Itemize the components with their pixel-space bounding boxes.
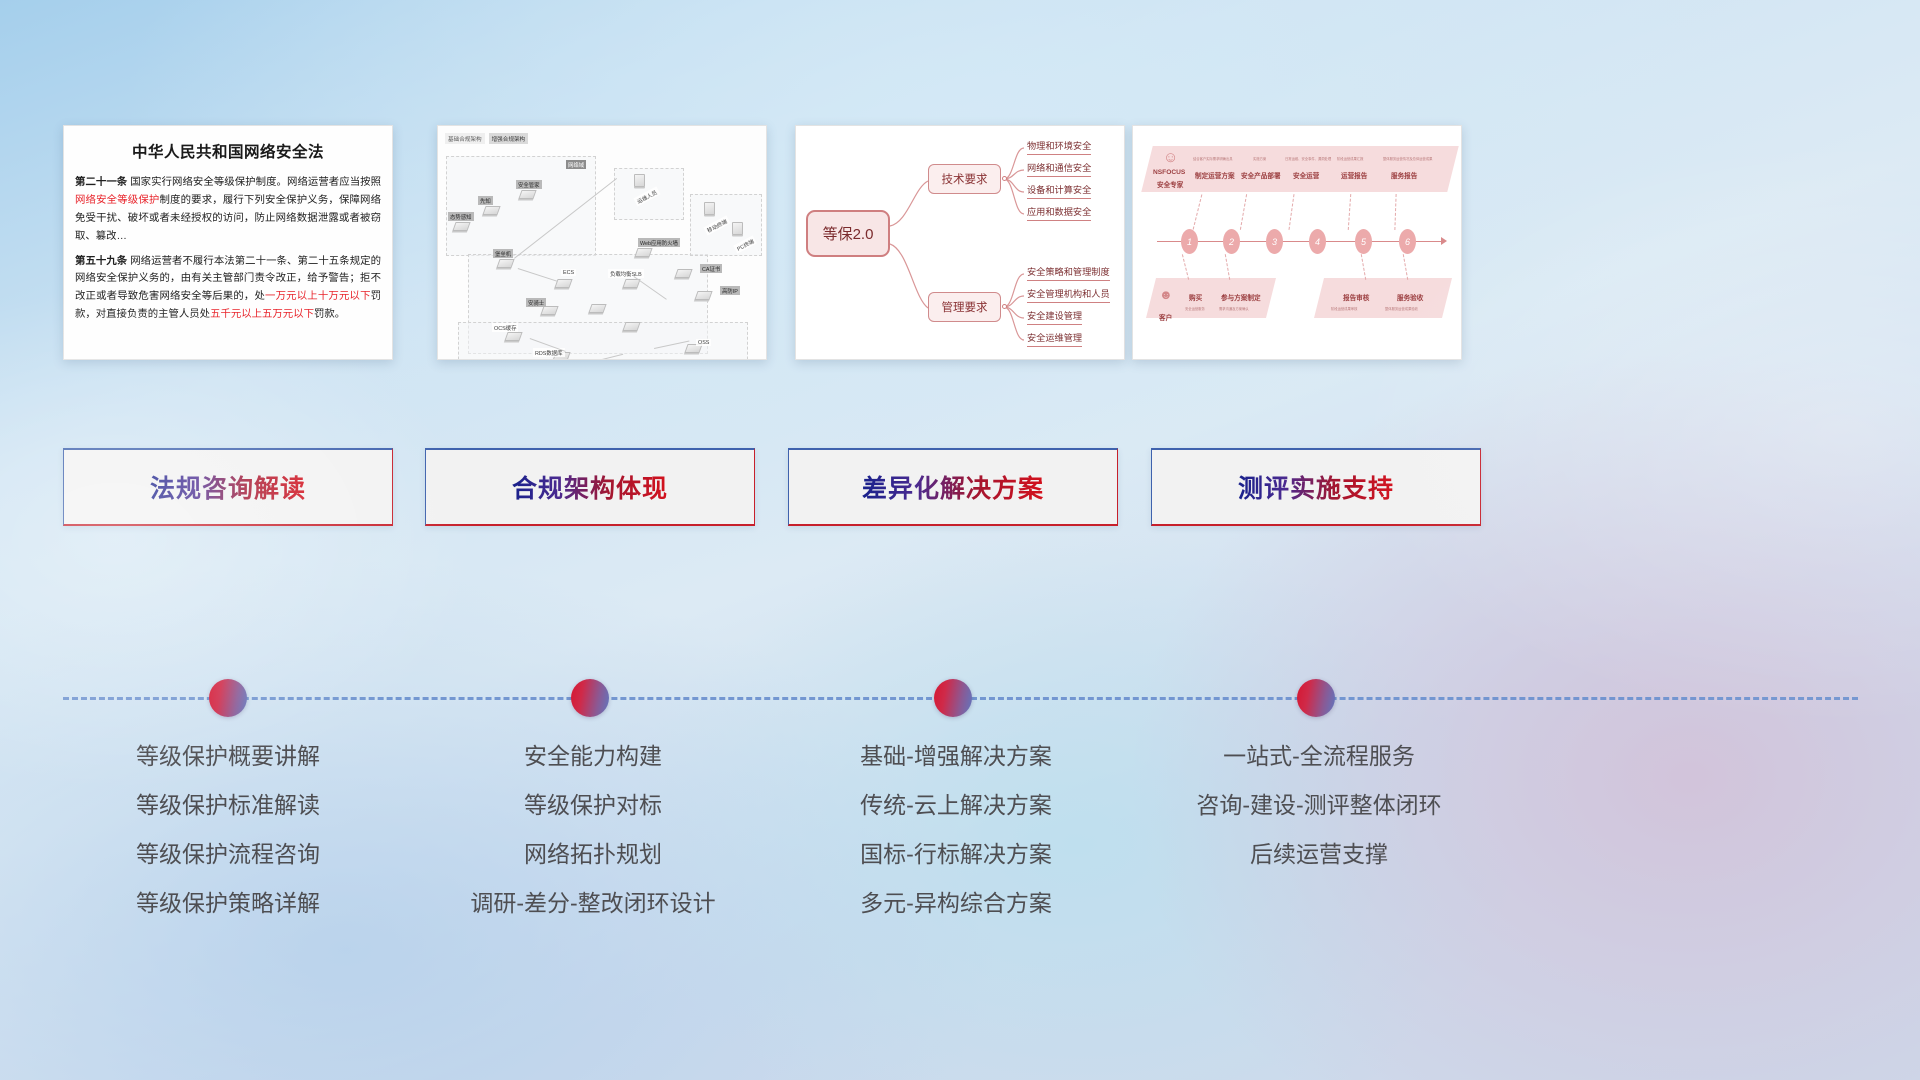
timeline-step-number: 4 [1309,229,1326,254]
architecture-node-label: 安骑士 [526,298,546,307]
timeline-node-3[interactable] [934,679,972,717]
law-highlight-segment: 网络安全等级保护 [75,195,159,206]
mindmap-leaf: 应用和数据安全 [1027,204,1091,221]
mindmap-leaf: 安全建设管理 [1027,308,1082,325]
architecture-node-label: Web应用防火墙 [638,238,680,247]
heading-label: 差异化解决方案 [862,469,1044,505]
timeline-tick [1348,194,1352,230]
device-icon-pc-terminal [732,222,743,235]
timeline-tick [1361,254,1366,280]
bottom-step-main: 服务验收 [1397,292,1423,302]
list-item: 等级保护流程咨询 [58,843,398,866]
device-icon-mobile-terminal [704,202,715,215]
timeline-tick [1193,194,1203,229]
list-item: 多元-异构综合方案 [786,892,1126,915]
heading-box-differentiated-solution[interactable]: 差异化解决方案 [788,448,1118,526]
customer-actor-label: 客户 [1159,312,1172,322]
law-article-label: 第五十九条 [75,256,127,267]
timeline-tick [1240,194,1247,230]
timeline-step-number: 6 [1399,229,1416,254]
mindmap-leaf: 物理和环境安全 [1027,138,1091,155]
timeline-tick [1403,254,1408,280]
architecture-node-label: OCS缓存 [492,323,518,332]
mindmap-branch-technical: 技术要求 [928,164,1001,194]
timeline-step-number: 1 [1181,229,1198,254]
architecture-node-label: 网络域 [566,160,586,169]
timeline-tick [1288,194,1294,230]
heading-label: 合规架构体现 [512,469,668,505]
top-step-main: 安全运营 [1293,170,1319,180]
bottom-step-main: 购买 [1189,292,1202,302]
architecture-node-label: 高防IP [720,286,740,295]
architecture-node-label: 堡垒机 [493,249,513,258]
timeline-tick [1225,254,1230,280]
device-icon-anti-ddos-ip [694,291,712,300]
law-highlight-segment: 一万元以上十万元以下 [265,291,371,302]
law-highlight-segment: 五千元以上五万元以下 [210,309,314,320]
list-assessment-support: 一站式-全流程服务 咨询-建设-测评整体闭环 后续运营支撑 [1149,745,1489,892]
law-paragraph: 第五十九条 网络运营者不履行本法第二十一条、第二十五条规定的网络安全保护义务的，… [75,253,381,325]
timeline-arrow-icon [1441,237,1447,245]
bottom-step-sub: 需求沟通及方案确认 [1219,306,1249,311]
architecture-node-label: CA证书 [700,264,722,273]
timeline-step-number: 3 [1266,229,1283,254]
architecture-diagram: 基础合规架构 增强合规架构 [438,126,766,359]
mindmap-leaf: 网络和通信安全 [1027,160,1091,177]
heading-label: 测评实施支持 [1238,469,1394,505]
architecture-node-label: ECS [561,269,576,276]
law-paragraph: 第二十一条 国家实行网络安全等级保护制度。网络运营者应当按照网络安全等级保护制度… [75,174,381,246]
law-text-segment: 罚款。 [314,309,345,320]
bottom-step-sub: 安全运营服务 [1185,306,1205,311]
law-card-title: 中华人民共和国网络安全法 [64,140,392,162]
list-item: 咨询-建设-测评整体闭环 [1149,794,1489,817]
customer-person-icon: ☻ [1159,288,1173,301]
architecture-tab-group[interactable]: 基础合规架构 增强合规架构 [445,133,528,144]
list-differentiated-solution: 基础-增强解决方案 传统-云上解决方案 国标-行标解决方案 多元-异构综合方案 [786,745,1126,941]
architecture-node-label: 负载均衡SLB [608,269,644,278]
top-step-main: 服务报告 [1391,170,1417,180]
list-item: 调研-差分-整改闭环设计 [423,892,763,915]
architecture-node-label: OSS [696,339,711,346]
bottom-step-main: 报告审核 [1343,292,1369,302]
infographic-canvas: 中华人民共和国网络安全法 第二十一条 国家实行网络安全等级保护制度。网络运营者应… [0,0,1920,1080]
timeline-node-1[interactable] [209,679,247,717]
bottom-step-main: 参与方案制定 [1221,292,1261,302]
nsfocus-timeline-diagram: ☺ NSFOCUS 安全专家 结合客户实际需求明确出具 制定运营方案 实施方案 … [1133,126,1461,359]
top-step-main: 运营报告 [1341,170,1367,180]
law-card-body: 第二十一条 国家实行网络安全等级保护制度。网络运营者应当按照网络安全等级保护制度… [64,174,392,324]
mindmap-branch-management: 管理要求 [928,292,1001,322]
heading-box-regulation-consulting[interactable]: 法规咨询解读 [63,448,393,526]
bottom-step-sub: 阶段运营成果审核 [1331,306,1357,311]
top-step-sub: 整体服务运营情况及总体运营成果 [1383,156,1432,161]
timeline-step-number: 5 [1355,229,1372,254]
timeline-node-4[interactable] [1297,679,1335,717]
law-text-segment: 国家实行网络安全等级保护制度。网络运营者应当按照 [127,177,381,188]
card-dengbao-mindmap[interactable]: 等保2.0 技术要求 物理和环境安全 网络和通信安全 设备和计算安全 应用和数据… [795,125,1125,360]
mindmap-leaf: 安全管理机构和人员 [1027,286,1110,303]
thumbnail-card-row: 中华人民共和国网络安全法 第二十一条 国家实行网络安全等级保护制度。网络运营者应… [0,125,1920,365]
mindmap-root-node: 等保2.0 [806,210,890,257]
nsfocus-expert-name: NSFOCUS [1153,169,1185,176]
list-item: 安全能力构建 [423,745,763,768]
top-step-main: 制定运营方案 [1195,170,1235,180]
nsfocus-expert-band [1141,146,1458,192]
list-item: 网络拓扑规划 [423,843,763,866]
card-nsfocus-service-timeline[interactable]: ☺ NSFOCUS 安全专家 结合客户实际需求明确出具 制定运营方案 实施方案 … [1132,125,1462,360]
top-step-sub: 日常运维、安全事件、漏洞处理 [1285,156,1331,161]
list-item: 等级保护对标 [423,794,763,817]
tab-basic-architecture[interactable]: 基础合规架构 [445,133,485,144]
timeline-step-number: 2 [1223,229,1240,254]
heading-label: 法规咨询解读 [150,469,306,505]
card-cybersecurity-law[interactable]: 中华人民共和国网络安全法 第二十一条 国家实行网络安全等级保护制度。网络运营者应… [63,125,393,360]
list-item: 国标-行标解决方案 [786,843,1126,866]
architecture-node-label: 先知 [478,196,493,205]
top-step-sub: 阶段运营成果汇报 [1337,156,1363,161]
device-icon-ops-user [634,174,645,187]
list-item: 基础-增强解决方案 [786,745,1126,768]
list-item: 等级保护概要讲解 [58,745,398,768]
list-item: 传统-云上解决方案 [786,794,1126,817]
mindmap-leaf: 安全策略和管理制度 [1027,264,1110,281]
timeline-tick [1182,254,1189,279]
timeline-node-2[interactable] [571,679,609,717]
top-step-main: 安全产品部署 [1241,170,1281,180]
list-item: 一站式-全流程服务 [1149,745,1489,768]
mindmap-collapse-icon[interactable] [1002,304,1007,309]
timeline-tick [1394,194,1396,230]
mindmap-leaf: 设备和计算安全 [1027,182,1091,199]
mindmap-leaf: 安全运维管理 [1027,330,1082,347]
expert-person-icon: ☺ [1163,150,1178,165]
mindmap-diagram: 等保2.0 技术要求 物理和环境安全 网络和通信安全 设备和计算安全 应用和数据… [796,126,1124,359]
list-regulation-consulting: 等级保护概要讲解 等级保护标准解读 等级保护流程咨询 等级保护策略详解 [58,745,398,941]
architecture-zone-left [446,156,596,256]
customer-band-right [1314,278,1452,318]
mindmap-collapse-icon[interactable] [1002,176,1007,181]
top-step-sub: 结合客户实际需求明确出具 [1193,156,1233,161]
list-item: 等级保护策略详解 [58,892,398,915]
top-step-sub: 实施方案 [1253,156,1266,161]
architecture-node-label: 安全管家 [516,180,542,189]
architecture-node-label: 态势感知 [448,212,474,221]
card-compliance-architecture[interactable]: 基础合规架构 增强合规架构 [437,125,767,360]
list-item: 等级保护标准解读 [58,794,398,817]
list-item: 后续运营支撑 [1149,843,1489,866]
heading-box-compliance-architecture[interactable]: 合规架构体现 [425,448,755,526]
list-compliance-architecture: 安全能力构建 等级保护对标 网络拓扑规划 调研-差分-整改闭环设计 [423,745,763,941]
heading-box-assessment-support[interactable]: 测评实施支持 [1151,448,1481,526]
law-article-label: 第二十一条 [75,177,127,188]
nsfocus-expert-role: 安全专家 [1157,179,1183,189]
tab-enhanced-architecture[interactable]: 增强合规架构 [489,133,529,144]
bottom-step-sub: 整体服务运营成果验收 [1385,306,1418,311]
